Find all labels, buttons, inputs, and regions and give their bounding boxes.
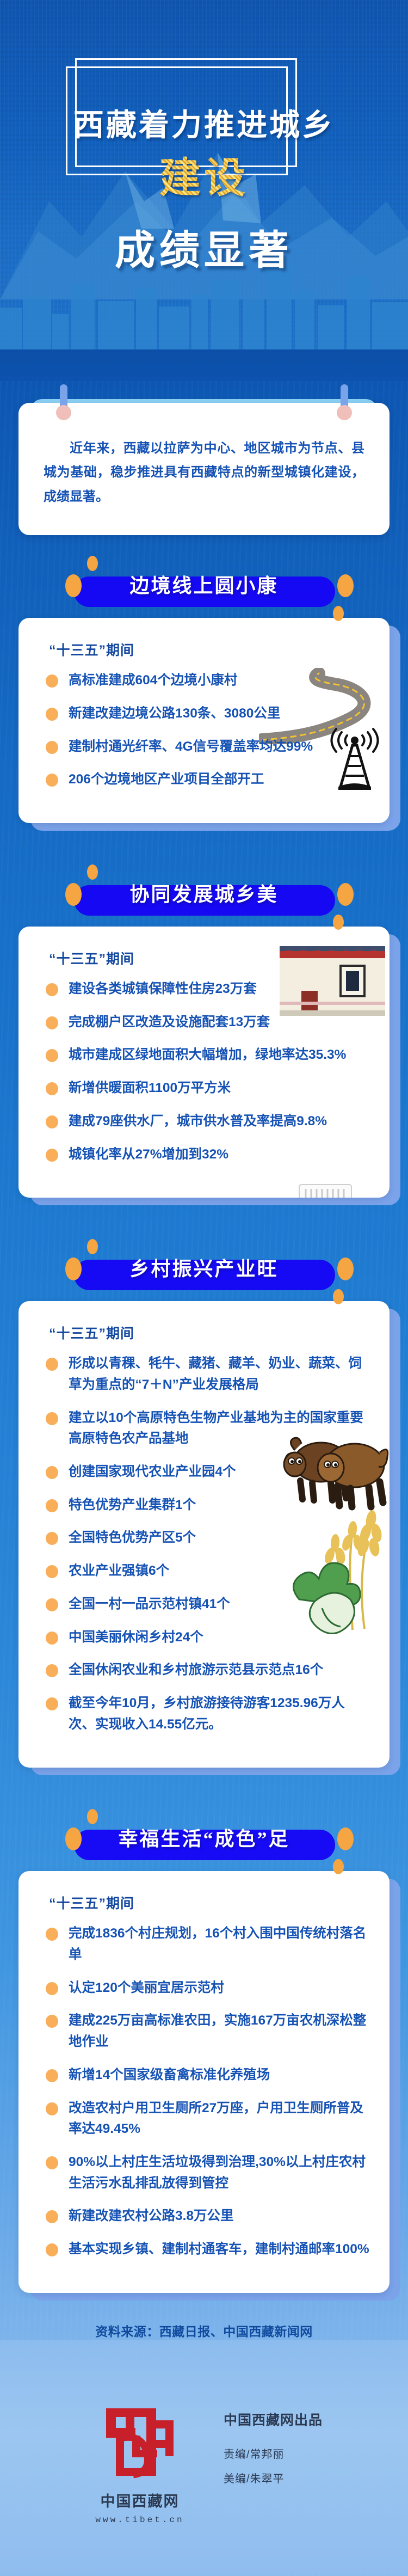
section-header-0: 边境线上圆小康 bbox=[0, 548, 408, 618]
hero-bottom-band bbox=[0, 349, 408, 381]
list-item: 农业产业强镇6个 bbox=[37, 1561, 371, 1582]
tibet-net-logo-icon bbox=[102, 2404, 178, 2480]
decor-dot-icon bbox=[87, 1809, 98, 1824]
card-body: “十三五”期间 形成以青稞、牦牛、藏猪、藏羊、奶业、蔬菜、饲草为重点的“7＋N”… bbox=[18, 1301, 390, 1768]
decor-dot-icon bbox=[87, 1239, 98, 1254]
list-item: 90%以上村庄生活垃圾得到治理,30%以上村庄农村生活污水乱排乱放得到管控 bbox=[37, 2152, 371, 2194]
section-header-1: 协同发展城乡美 bbox=[0, 857, 408, 927]
intro-text: 近年来，西藏以拉萨为中心、地区城市为节点、县城为基础，稳步推进具有西藏特点的新型… bbox=[44, 437, 364, 509]
intro-block: 近年来，西藏以拉萨为中心、地区城市为节点、县城为基础，稳步推进具有西藏特点的新型… bbox=[0, 381, 408, 535]
list-item: 高标准建成604个边境小康村 bbox=[37, 670, 371, 691]
card-body: “十三五”期间 高标准建成604个边境小康村 新建改建边境公路130条、3080… bbox=[18, 618, 390, 823]
list-item: 形成以青稞、牦牛、藏猪、藏羊、奶业、蔬菜、饲草为重点的“7＋N”产业发展格局 bbox=[37, 1353, 371, 1395]
section-header-2: 乡村振兴产业旺 bbox=[0, 1231, 408, 1301]
list-item: 中国美丽休闲乡村24个 bbox=[37, 1627, 371, 1648]
period-label: “十三五”期间 bbox=[49, 640, 371, 659]
list-item: 新建改建农村公路3.8万公里 bbox=[37, 2206, 371, 2227]
list-item: 创建国家现代农业产业园4个 bbox=[37, 1462, 371, 1483]
page-title-line1: 西藏着力推进城乡 bbox=[0, 101, 408, 145]
list-item: 城镇化率从27%增加到32% bbox=[37, 1144, 371, 1166]
credit-designer: 美编/朱翠平 bbox=[224, 2470, 323, 2486]
radiator-icon bbox=[297, 1182, 354, 1198]
credit-editor: 责编/常邦丽 bbox=[224, 2445, 323, 2461]
list-item: 认定120个美丽宜居示范村 bbox=[37, 1978, 371, 1999]
page-title-highlight: 建设 bbox=[0, 144, 408, 204]
list-item: 新增14个国家级畜禽标准化养殖场 bbox=[37, 2065, 371, 2086]
list-item: 完成1836个村庄规划，16个村入围中国传统村落名单 bbox=[37, 1923, 371, 1965]
list-item: 建成225万亩高标准农田，实施167万亩农机深松整地作业 bbox=[37, 2010, 371, 2052]
card-body: “十三五”期间 建设各类城镇保障性住房23万套 完成棚户区改造及设施配套13万套… bbox=[18, 927, 390, 1198]
list-item: 改造农村户用卫生厕所27万座，户用卫生厕所普及率达49.45% bbox=[37, 2098, 371, 2140]
list-item: 新增供暖面积1100万平方米 bbox=[37, 1078, 371, 1099]
list-item: 建设各类城镇保障性住房23万套 bbox=[37, 979, 371, 1000]
bullet-list: 建设各类城镇保障性住房23万套 完成棚户区改造及设施配套13万套 城市建成区绿地… bbox=[37, 979, 371, 1165]
bullet-list: 高标准建成604个边境小康村 新建改建边境公路130条、3080公里 建制村通光… bbox=[37, 670, 371, 790]
list-item: 新建改建边境公路130条、3080公里 bbox=[37, 703, 371, 725]
list-item: 206个边境地区产业项目全部开工 bbox=[37, 769, 371, 790]
period-label: “十三五”期间 bbox=[49, 1323, 371, 1342]
section-card-0: “十三五”期间 高标准建成604个边境小康村 新建改建边境公路130条、3080… bbox=[0, 618, 408, 823]
list-item: 全国一村一品示范村镇41个 bbox=[37, 1594, 371, 1615]
period-label: “十三五”期间 bbox=[49, 948, 371, 968]
list-item: 建成79座供水厂，城市供水普及率提高9.8% bbox=[37, 1111, 371, 1132]
bullet-list: 形成以青稞、牦牛、藏猪、藏羊、奶业、蔬菜、饲草为重点的“7＋N”产业发展格局 建… bbox=[37, 1353, 371, 1735]
list-item: 建立以10个高原特色生物产业基地为主的国家重要高原特色农产品基地 bbox=[37, 1408, 371, 1450]
pin-left-icon bbox=[60, 384, 67, 418]
credits-block: 中国西藏网出品 责编/常邦丽 美编/朱翠平 bbox=[224, 2404, 323, 2494]
decor-dot-icon bbox=[87, 556, 98, 571]
decor-dot-icon bbox=[87, 864, 98, 880]
section-title: 边境线上圆小康 bbox=[0, 570, 408, 598]
brand-logo-block: 中国西藏网 www.tibet.cn bbox=[85, 2404, 194, 2525]
logo-url: www.tibet.cn bbox=[85, 2515, 194, 2525]
page-title-line3: 成绩显著 bbox=[0, 218, 408, 276]
decor-dot-icon bbox=[333, 915, 344, 930]
section-card-1: “十三五”期间 建设各类城镇保障性住房23万套 完成棚户区改造及设施配套13万套… bbox=[0, 927, 408, 1198]
intro-card: 近年来，西藏以拉萨为中心、地区城市为节点、县城为基础，稳步推进具有西藏特点的新型… bbox=[18, 403, 390, 535]
section-title: 乡村振兴产业旺 bbox=[0, 1253, 408, 1281]
list-item: 城市建成区绿地面积大幅增加，绿地率达35.3% bbox=[37, 1045, 371, 1066]
pin-right-icon bbox=[341, 384, 348, 418]
list-item: 特色优势产业集群1个 bbox=[37, 1495, 371, 1516]
logo-name: 中国西藏网 bbox=[85, 2489, 194, 2511]
list-item: 建制村通光纤率、4G信号覆盖率均达99% bbox=[37, 737, 371, 758]
section-header-3: 幸福生活“成色”足 bbox=[0, 1801, 408, 1871]
list-item: 截至今年10月，乡村旅游接待游客1235.96万人次、实现收入14.55亿元。 bbox=[37, 1693, 371, 1735]
decor-dot-icon bbox=[333, 606, 344, 621]
section-title: 幸福生活“成色”足 bbox=[0, 1823, 408, 1851]
bullet-list: 完成1836个村庄规划，16个村入围中国传统村落名单 认定120个美丽宜居示范村… bbox=[37, 1923, 371, 2260]
hero-banner: 西藏着力推进城乡 建设 成绩显著 bbox=[0, 0, 408, 381]
list-item: 全国休闲农业和乡村旅游示范县示范点16个 bbox=[37, 1660, 371, 1681]
section-card-3: “十三五”期间 完成1836个村庄规划，16个村入围中国传统村落名单 认定120… bbox=[0, 1871, 408, 2292]
list-item: 完成棚户区改造及设施配套13万套 bbox=[37, 1012, 371, 1033]
section-card-2: “十三五”期间 形成以青稞、牦牛、藏猪、藏羊、奶业、蔬菜、饲草为重点的“7＋N”… bbox=[0, 1301, 408, 1768]
list-item: 基本实现乡镇、建制村通客车，建制村通邮率100% bbox=[37, 2239, 371, 2260]
list-item: 全国特色优势产区5个 bbox=[37, 1528, 371, 1549]
period-label: “十三五”期间 bbox=[49, 1893, 371, 1912]
produced-by: 中国西藏网出品 bbox=[224, 2409, 323, 2429]
card-body: “十三五”期间 完成1836个村庄规划，16个村入围中国传统村落名单 认定120… bbox=[18, 1871, 390, 2292]
page-body: 近年来，西藏以拉萨为中心、地区城市为节点、县城为基础，稳步推进具有西藏特点的新型… bbox=[0, 381, 408, 2576]
section-title: 协同发展城乡美 bbox=[0, 879, 408, 907]
page-footer: 中国西藏网 www.tibet.cn 中国西藏网出品 责编/常邦丽 美编/朱翠平 bbox=[0, 2340, 408, 2574]
